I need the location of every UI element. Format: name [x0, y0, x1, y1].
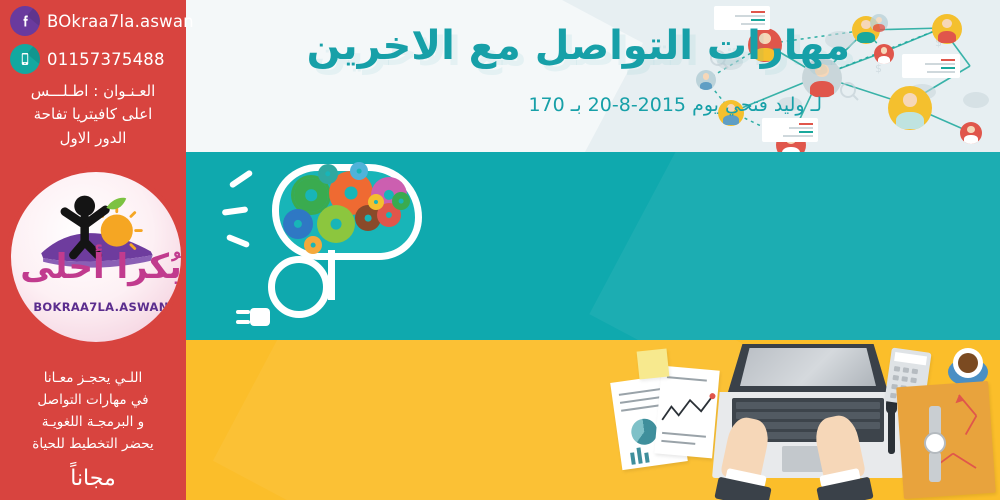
- calculator-screen: [894, 352, 927, 365]
- text-line: [661, 440, 695, 445]
- avatar-body: [873, 24, 884, 31]
- calc-key: [890, 393, 897, 399]
- avatar-head: [967, 126, 974, 133]
- cable-loop-icon: [268, 256, 330, 318]
- phone-number: 01157375488: [47, 50, 165, 69]
- calc-key: [912, 369, 919, 375]
- plug-pin: [236, 310, 250, 314]
- watch-face: [924, 432, 946, 454]
- address-line-3: الدور الاول: [6, 127, 180, 150]
- avatar-body: [896, 112, 923, 130]
- section-communication-skills: $$$: [186, 0, 1000, 152]
- bubble-line: [735, 15, 765, 17]
- address-line-2: اعلى كافيتريا تفاحة: [6, 103, 180, 126]
- avatar-head: [942, 19, 952, 29]
- section-title-communication: مهارات التواصل مع الاخرين: [307, 26, 850, 66]
- bubble-line: [799, 131, 813, 133]
- sticky-note: [637, 349, 670, 380]
- section-subtitle-communication: لـ وليد فتحي يوم 2015-8-20 بـ 170: [528, 96, 822, 115]
- gear-icon: [394, 194, 408, 208]
- wristwatch-icon: [918, 406, 954, 482]
- address-line-1: العـنـوان : اطـلـــس: [6, 80, 180, 103]
- bubble-line: [751, 19, 765, 21]
- message-bubble: [902, 54, 960, 78]
- bubble-line: [927, 71, 955, 73]
- calc-key: [901, 376, 908, 382]
- promo-line-4: يحضر التخطيط للحياة: [8, 434, 178, 456]
- gear-icon: [352, 164, 366, 178]
- avatar-node: [960, 122, 982, 144]
- logo-latin-text: BOKRAA7LA.ASWAN: [11, 300, 186, 314]
- logo-circle: بُكرا أحلى BOKRAA7LA.ASWAN: [6, 167, 186, 347]
- avatar-body: [938, 31, 957, 43]
- facebook-contact[interactable]: BOkraa7la.aswan: [10, 6, 194, 36]
- phone-contact[interactable]: 01157375488: [10, 44, 165, 74]
- logo-arabic-text: بُكرا أحلى: [11, 250, 186, 284]
- text-line: [662, 432, 706, 438]
- key: [736, 412, 880, 419]
- ray-icon: [226, 234, 251, 249]
- bubble-line: [783, 135, 813, 137]
- bubble-line: [751, 11, 765, 13]
- promo-banner: BOkraa7la.aswan 01157375488 العـنـوان : …: [0, 0, 1000, 500]
- gear-icon: [294, 178, 328, 212]
- bubble-line: [925, 63, 955, 65]
- plug-body: [250, 308, 270, 326]
- gloss-overlay: [590, 152, 1000, 340]
- bubble-line: [941, 59, 955, 61]
- bar: [636, 447, 642, 463]
- calc-key: [910, 377, 917, 383]
- avatar-node: [874, 44, 894, 64]
- facebook-handle: BOkraa7la.aswan: [47, 12, 194, 31]
- promo-offer-text: اللـي يحجـز معـانا في مهارات التواصل و ا…: [0, 368, 186, 497]
- bar: [630, 452, 636, 464]
- message-bubble: [762, 118, 818, 142]
- promo-free-label: مجاناً: [8, 461, 178, 497]
- address-block: العـنـوان : اطـلـــس اعلى كافيتريا تفاحة…: [0, 80, 186, 150]
- key: [736, 402, 880, 409]
- bubble-line: [789, 127, 813, 129]
- promo-line-3: و البرمجـة اللغويـة: [8, 412, 178, 434]
- avatar-body: [964, 135, 978, 144]
- power-plug-icon: [236, 306, 270, 328]
- phone-icon: [10, 44, 40, 74]
- gear-icon: [286, 212, 310, 236]
- promo-line-1: اللـي يحجـز معـانا: [8, 368, 178, 390]
- gear-icon: [306, 238, 320, 252]
- plug-pin: [236, 320, 250, 324]
- avatar-body: [878, 56, 890, 64]
- avatar-body: [700, 82, 712, 90]
- calc-key: [903, 367, 910, 373]
- gear-icon: [370, 196, 382, 208]
- gear-icon: [358, 208, 378, 228]
- desk-laptop-illustration: [600, 340, 1000, 500]
- laptop-screen: [740, 348, 876, 386]
- brain-gears-illustration: [224, 160, 454, 340]
- section-nlp-programming: البرمجة اللغويه لـ د،شريف ابو فرحه يوم 2…: [186, 152, 1000, 340]
- avatar-body: [857, 32, 874, 43]
- bubble-line: [799, 123, 813, 125]
- line-chart-icon: [660, 388, 717, 431]
- bar: [644, 452, 649, 462]
- avatar-body: [723, 115, 739, 125]
- watch-band: [929, 452, 941, 482]
- facebook-icon: [10, 6, 40, 36]
- avatar-node: [932, 14, 962, 44]
- avatar-node: [696, 70, 716, 90]
- avatar-head: [881, 47, 888, 53]
- calc-key: [892, 375, 899, 381]
- calc-key: [894, 366, 901, 372]
- avatar-node: [870, 14, 888, 32]
- coffee: [958, 353, 978, 373]
- avatar-head: [876, 17, 882, 23]
- chart-paper: [654, 366, 719, 459]
- ray-icon: [222, 206, 249, 216]
- logo: بُكرا أحلى BOKRAA7LA.ASWAN: [6, 167, 194, 347]
- gear-icon: [332, 174, 370, 212]
- svg-text:$: $: [875, 62, 882, 75]
- text-line: [667, 376, 707, 381]
- ray-icon: [229, 169, 254, 189]
- avatar-node: [888, 86, 932, 130]
- text-line: [621, 404, 663, 412]
- bubble-line: [941, 67, 955, 69]
- gear-icon: [380, 206, 398, 224]
- cable-stem-icon: [328, 250, 335, 300]
- avatar-head: [903, 93, 918, 107]
- promo-line-2: في مهارات التواصل: [8, 390, 178, 412]
- gear-icon: [320, 208, 352, 240]
- section-life-planning: التخطيط للحياة لـ يسرا مجدي يوم 2015-8-1…: [186, 340, 1000, 500]
- avatar-head: [703, 73, 710, 79]
- gear-icon: [320, 166, 336, 182]
